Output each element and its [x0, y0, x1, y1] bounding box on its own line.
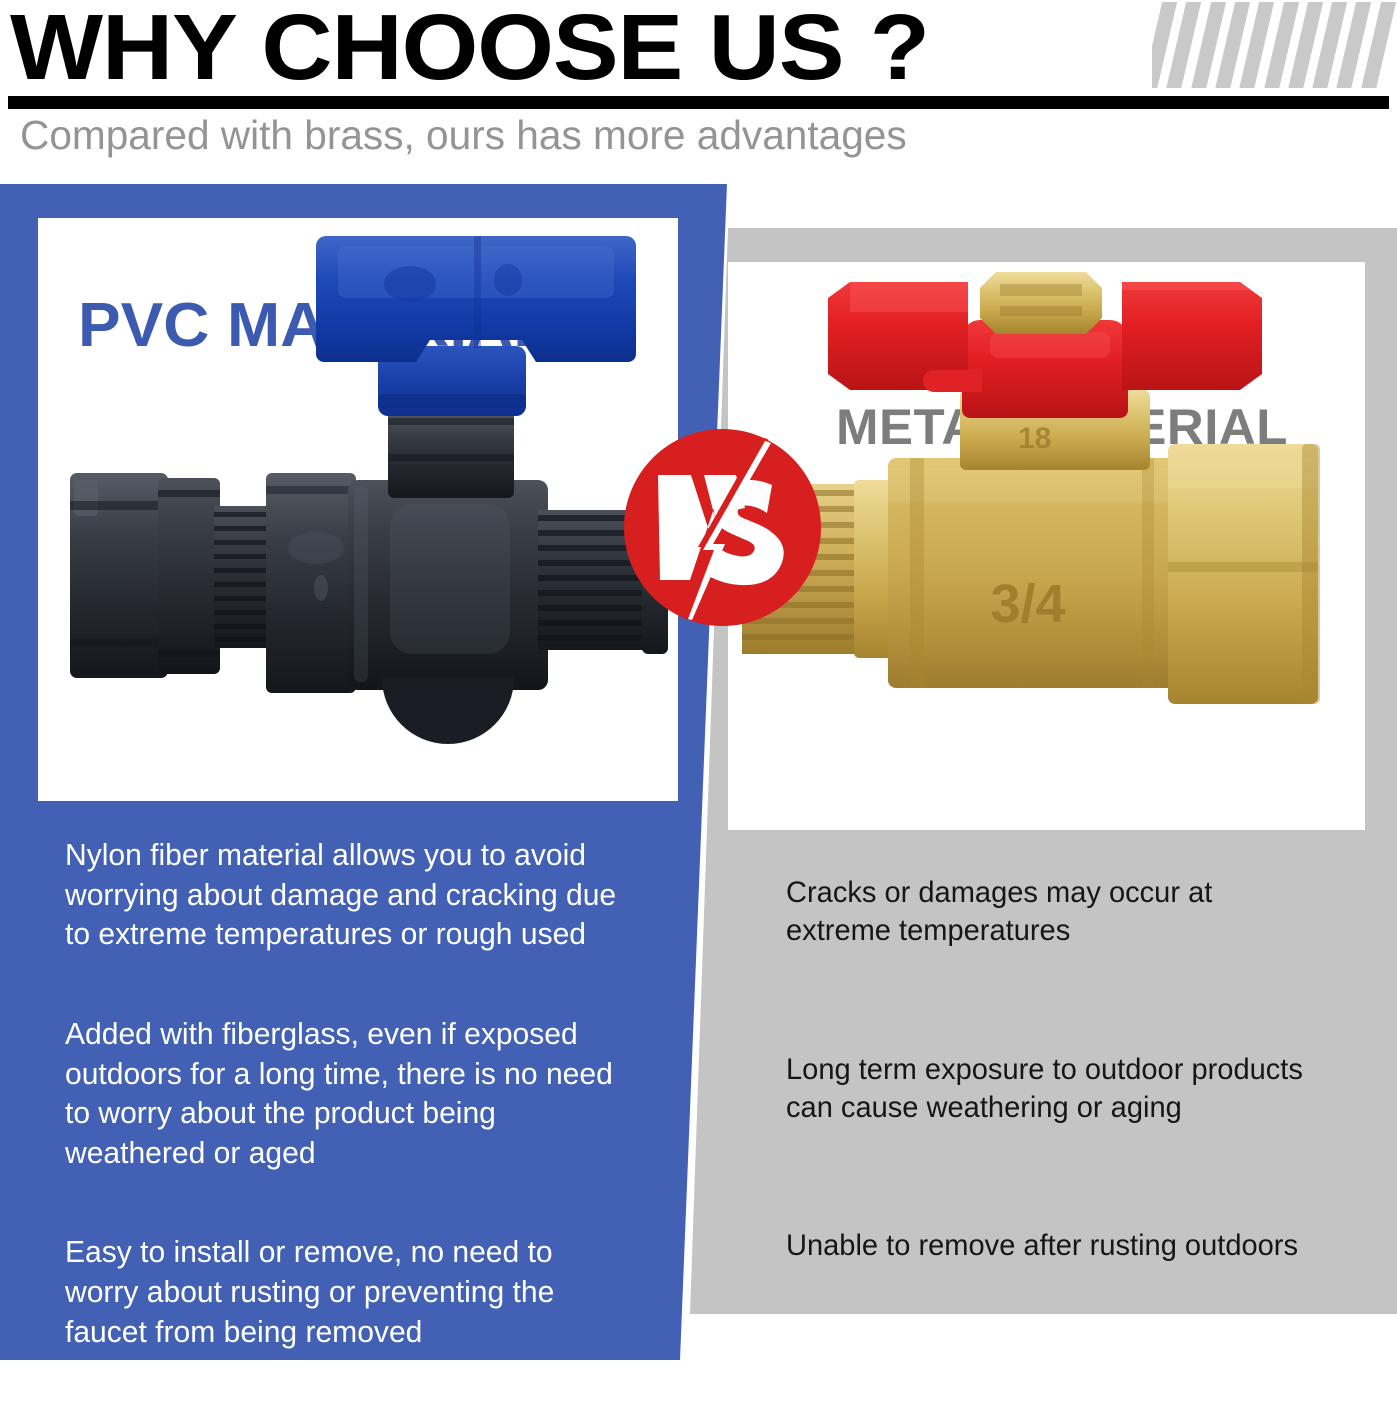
metal-bullet-1: Cracks or damages may occur at extreme t…	[786, 874, 1323, 951]
pvc-left-thread	[214, 506, 272, 648]
diagonal-stripes-decoration	[1152, 2, 1396, 88]
valve-size-marking: 3/4	[990, 574, 1065, 634]
pvc-valve-body	[348, 480, 548, 744]
pvc-bullet-1: Nylon fiber material allows you to avoid…	[65, 836, 617, 955]
pvc-ball-valve-illustration	[38, 218, 678, 801]
metal-bullet-3: Unable to remove after rusting outdoors	[786, 1227, 1323, 1265]
pvc-union-hex	[266, 473, 356, 693]
vs-badge	[624, 429, 821, 626]
metal-bullet-2: Long term exposure to outdoor products c…	[786, 1051, 1323, 1128]
page-title: WHY CHOOSE US ?	[10, 0, 929, 101]
metal-drawbacks-list: Cracks or damages may occur at extreme t…	[786, 874, 1331, 1388]
page-header: WHY CHOOSE US ? Compared with brass, our…	[0, 0, 1397, 178]
brass-top-nut	[980, 272, 1102, 334]
page-subtitle: Compared with brass, ours has more advan…	[20, 112, 907, 159]
pvc-advantages-list: Nylon fiber material allows you to avoid…	[65, 836, 625, 1412]
brass-female-hex	[1168, 444, 1320, 704]
brass-valve-body: 3/4	[888, 458, 1188, 688]
header-divider-rule	[8, 96, 1389, 109]
pvc-hex-nut	[70, 473, 168, 678]
pvc-bullet-2: Added with fiberglass, even if exposed o…	[65, 1015, 617, 1174]
pvc-bonnet	[388, 408, 514, 498]
pvc-blue-handle	[316, 236, 636, 362]
brass-ball-valve-illustration: 3/4 18	[728, 262, 1365, 830]
valve-stamp: 18	[1018, 422, 1051, 455]
pvc-bullet-3: Easy to install or remove, no need to wo…	[65, 1233, 617, 1352]
